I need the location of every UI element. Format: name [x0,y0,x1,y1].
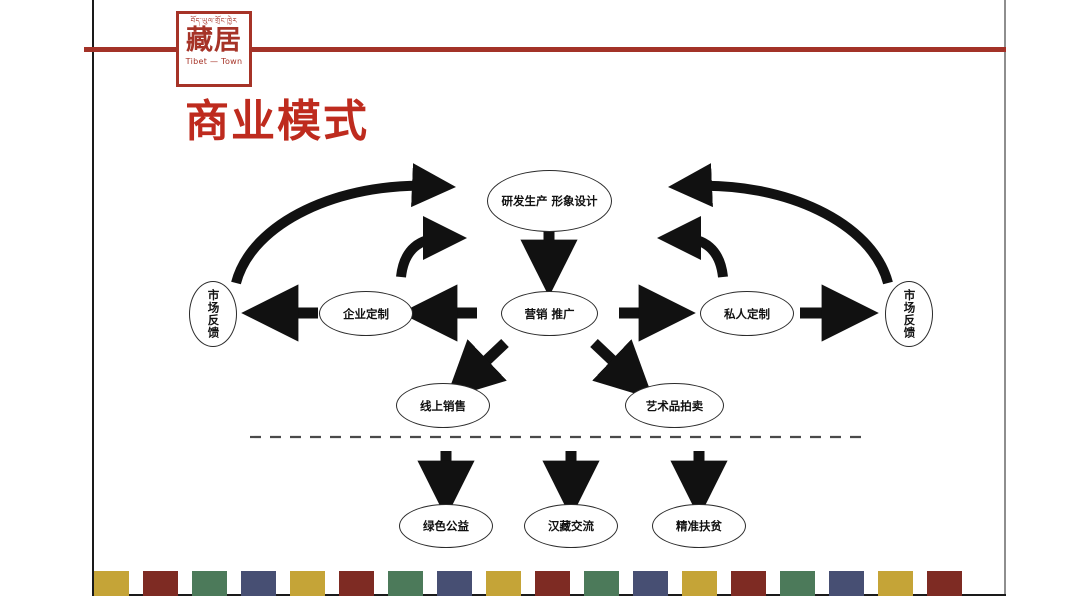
node-label: 市场反馈 [206,289,221,339]
color-bar-cell [437,571,472,596]
node-online-sales[interactable]: 线上销售 [396,383,490,428]
color-bar-cell [535,571,570,596]
color-bar-cell [633,571,668,596]
color-bar-cell [290,571,325,596]
node-marketing-promotion[interactable]: 营销 推广 [501,291,598,336]
arrow-curve-enterprise-to-rd [401,238,443,277]
business-model-diagram: 研发生产 形象设计 市场反馈 企业定制 营销 推广 私人定制 市场反馈 线上销售… [0,0,1067,600]
arrow-curve-private-to-rd [681,238,723,277]
node-label: 汉藏交流 [548,519,594,533]
node-green-charity[interactable]: 绿色公益 [399,504,493,548]
color-bar-cell [143,571,178,596]
node-label: 绿色公益 [423,519,469,533]
color-bar-cell [241,571,276,596]
arrow-marketing-to-art-auction [594,343,631,378]
color-bar-cell [339,571,374,596]
color-bar-cell [486,571,521,596]
node-market-feedback-right[interactable]: 市场反馈 [885,281,933,347]
arrow-marketing-to-online-sales [468,343,505,378]
color-bar-cell [682,571,717,596]
color-bar-cell [780,571,815,596]
node-label: 研发生产 形象设计 [501,194,597,208]
color-bar-cell [388,571,423,596]
color-bar-cell [927,571,962,596]
color-bar-cell [731,571,766,596]
brand-logo: བོད་ཡུལ་གྲོང་ཁྱེར 藏居 Tibet — Town [176,11,252,87]
node-label: 精准扶贫 [676,519,722,533]
arrow-curve-feedback-right-to-rd [692,186,888,283]
logo-tibetan-script: བོད་ཡུལ་གྲོང་ཁྱེར [191,17,238,25]
node-rd-design[interactable]: 研发生产 形象设计 [487,170,612,232]
node-label: 私人定制 [724,307,770,321]
logo-latin-name: Tibet — Town [186,57,243,67]
node-label: 艺术品拍卖 [646,399,704,413]
color-bar-cell [94,571,129,596]
slide-canvas: བོད་ཡུལ་གྲོང་ཁྱེར 藏居 Tibet — Town 商业模式 [0,0,1067,600]
arrow-curve-feedback-left-to-rd [236,186,432,283]
node-market-feedback-left[interactable]: 市场反馈 [189,281,237,347]
node-label: 营销 推广 [524,307,574,321]
logo-chinese-glyphs: 藏居 [186,26,242,56]
node-label: 线上销售 [420,399,466,413]
color-bar-cell [878,571,913,596]
node-art-auction[interactable]: 艺术品拍卖 [625,383,724,428]
node-han-tibet-exchange[interactable]: 汉藏交流 [524,504,618,548]
node-targeted-poverty-relief[interactable]: 精准扶贫 [652,504,746,548]
color-bar-cell [584,571,619,596]
color-bar-cell [829,571,864,596]
node-enterprise-custom[interactable]: 企业定制 [319,291,413,336]
node-label: 市场反馈 [902,289,917,339]
node-label: 企业定制 [343,307,389,321]
footer-color-bar [94,571,1004,596]
color-bar-cell [192,571,227,596]
node-private-custom[interactable]: 私人定制 [700,291,794,336]
